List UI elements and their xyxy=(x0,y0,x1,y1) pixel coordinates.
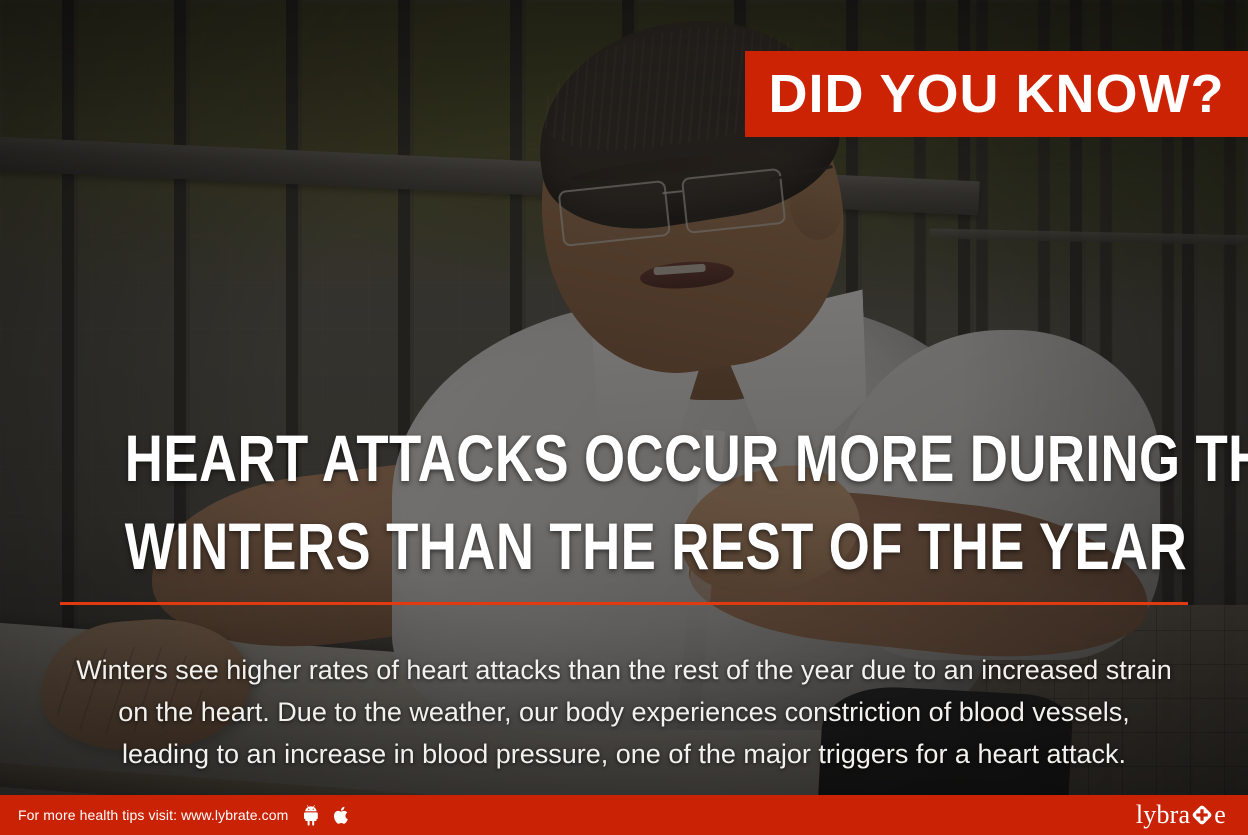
apple-icon[interactable] xyxy=(333,805,351,826)
poster: DID YOU KNOW? HEART ATTACKS OCCUR MORE D… xyxy=(0,0,1248,835)
store-icons xyxy=(304,805,351,826)
body-text: Winters see higher rates of heart attack… xyxy=(74,649,1174,775)
divider xyxy=(60,602,1188,605)
plus-diamond-icon xyxy=(1191,804,1213,826)
android-icon[interactable] xyxy=(304,805,323,826)
footer-tagline: For more health tips visit: www.lybrate.… xyxy=(18,807,288,823)
headline-line-1: HEART ATTACKS OCCUR MORE DURING THE xyxy=(125,414,1123,502)
headline-line-2: WINTERS THAN THE REST OF THE YEAR xyxy=(125,502,1123,590)
logo-text-suffix: e xyxy=(1214,802,1226,828)
did-you-know-badge-label: DID YOU KNOW? xyxy=(769,67,1225,121)
footer-left-group: For more health tips visit: www.lybrate.… xyxy=(18,805,351,826)
page-title: HEART ATTACKS OCCUR MORE DURING THE WINT… xyxy=(125,414,1123,590)
logo-text-prefix: lybra xyxy=(1136,802,1190,828)
lybrate-logo[interactable]: lybra e xyxy=(1136,802,1226,828)
footer-bar: For more health tips visit: www.lybrate.… xyxy=(0,795,1248,835)
did-you-know-badge: DID YOU KNOW? xyxy=(745,51,1248,137)
